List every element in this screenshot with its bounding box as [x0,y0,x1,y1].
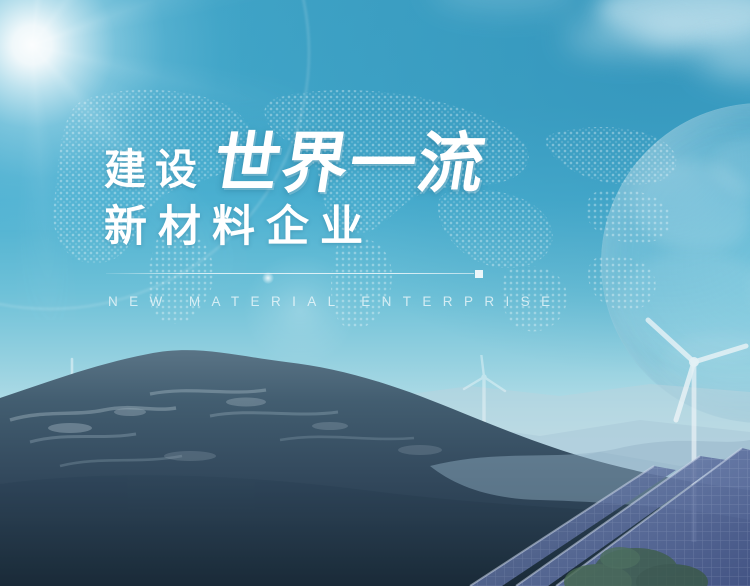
headline-prefix: 建设 [104,149,206,191]
divider-end-cap [475,270,483,278]
headline-line-2: 新材料企业 [104,206,664,249]
hero-banner: 建设 世界一流 新材料企业 NEW MATERIAL ENTERPRISE [0,0,750,586]
subtitle: NEW MATERIAL ENTERPRISE [108,294,664,309]
headline-line-1: 建设 世界一流 [104,132,664,195]
divider [106,273,474,274]
mountain-range [0,270,750,586]
headline-block: 建设 世界一流 新材料企业 NEW MATERIAL ENTERPRISE [104,132,664,309]
headline-emphasis: 世界一流 [209,132,491,195]
